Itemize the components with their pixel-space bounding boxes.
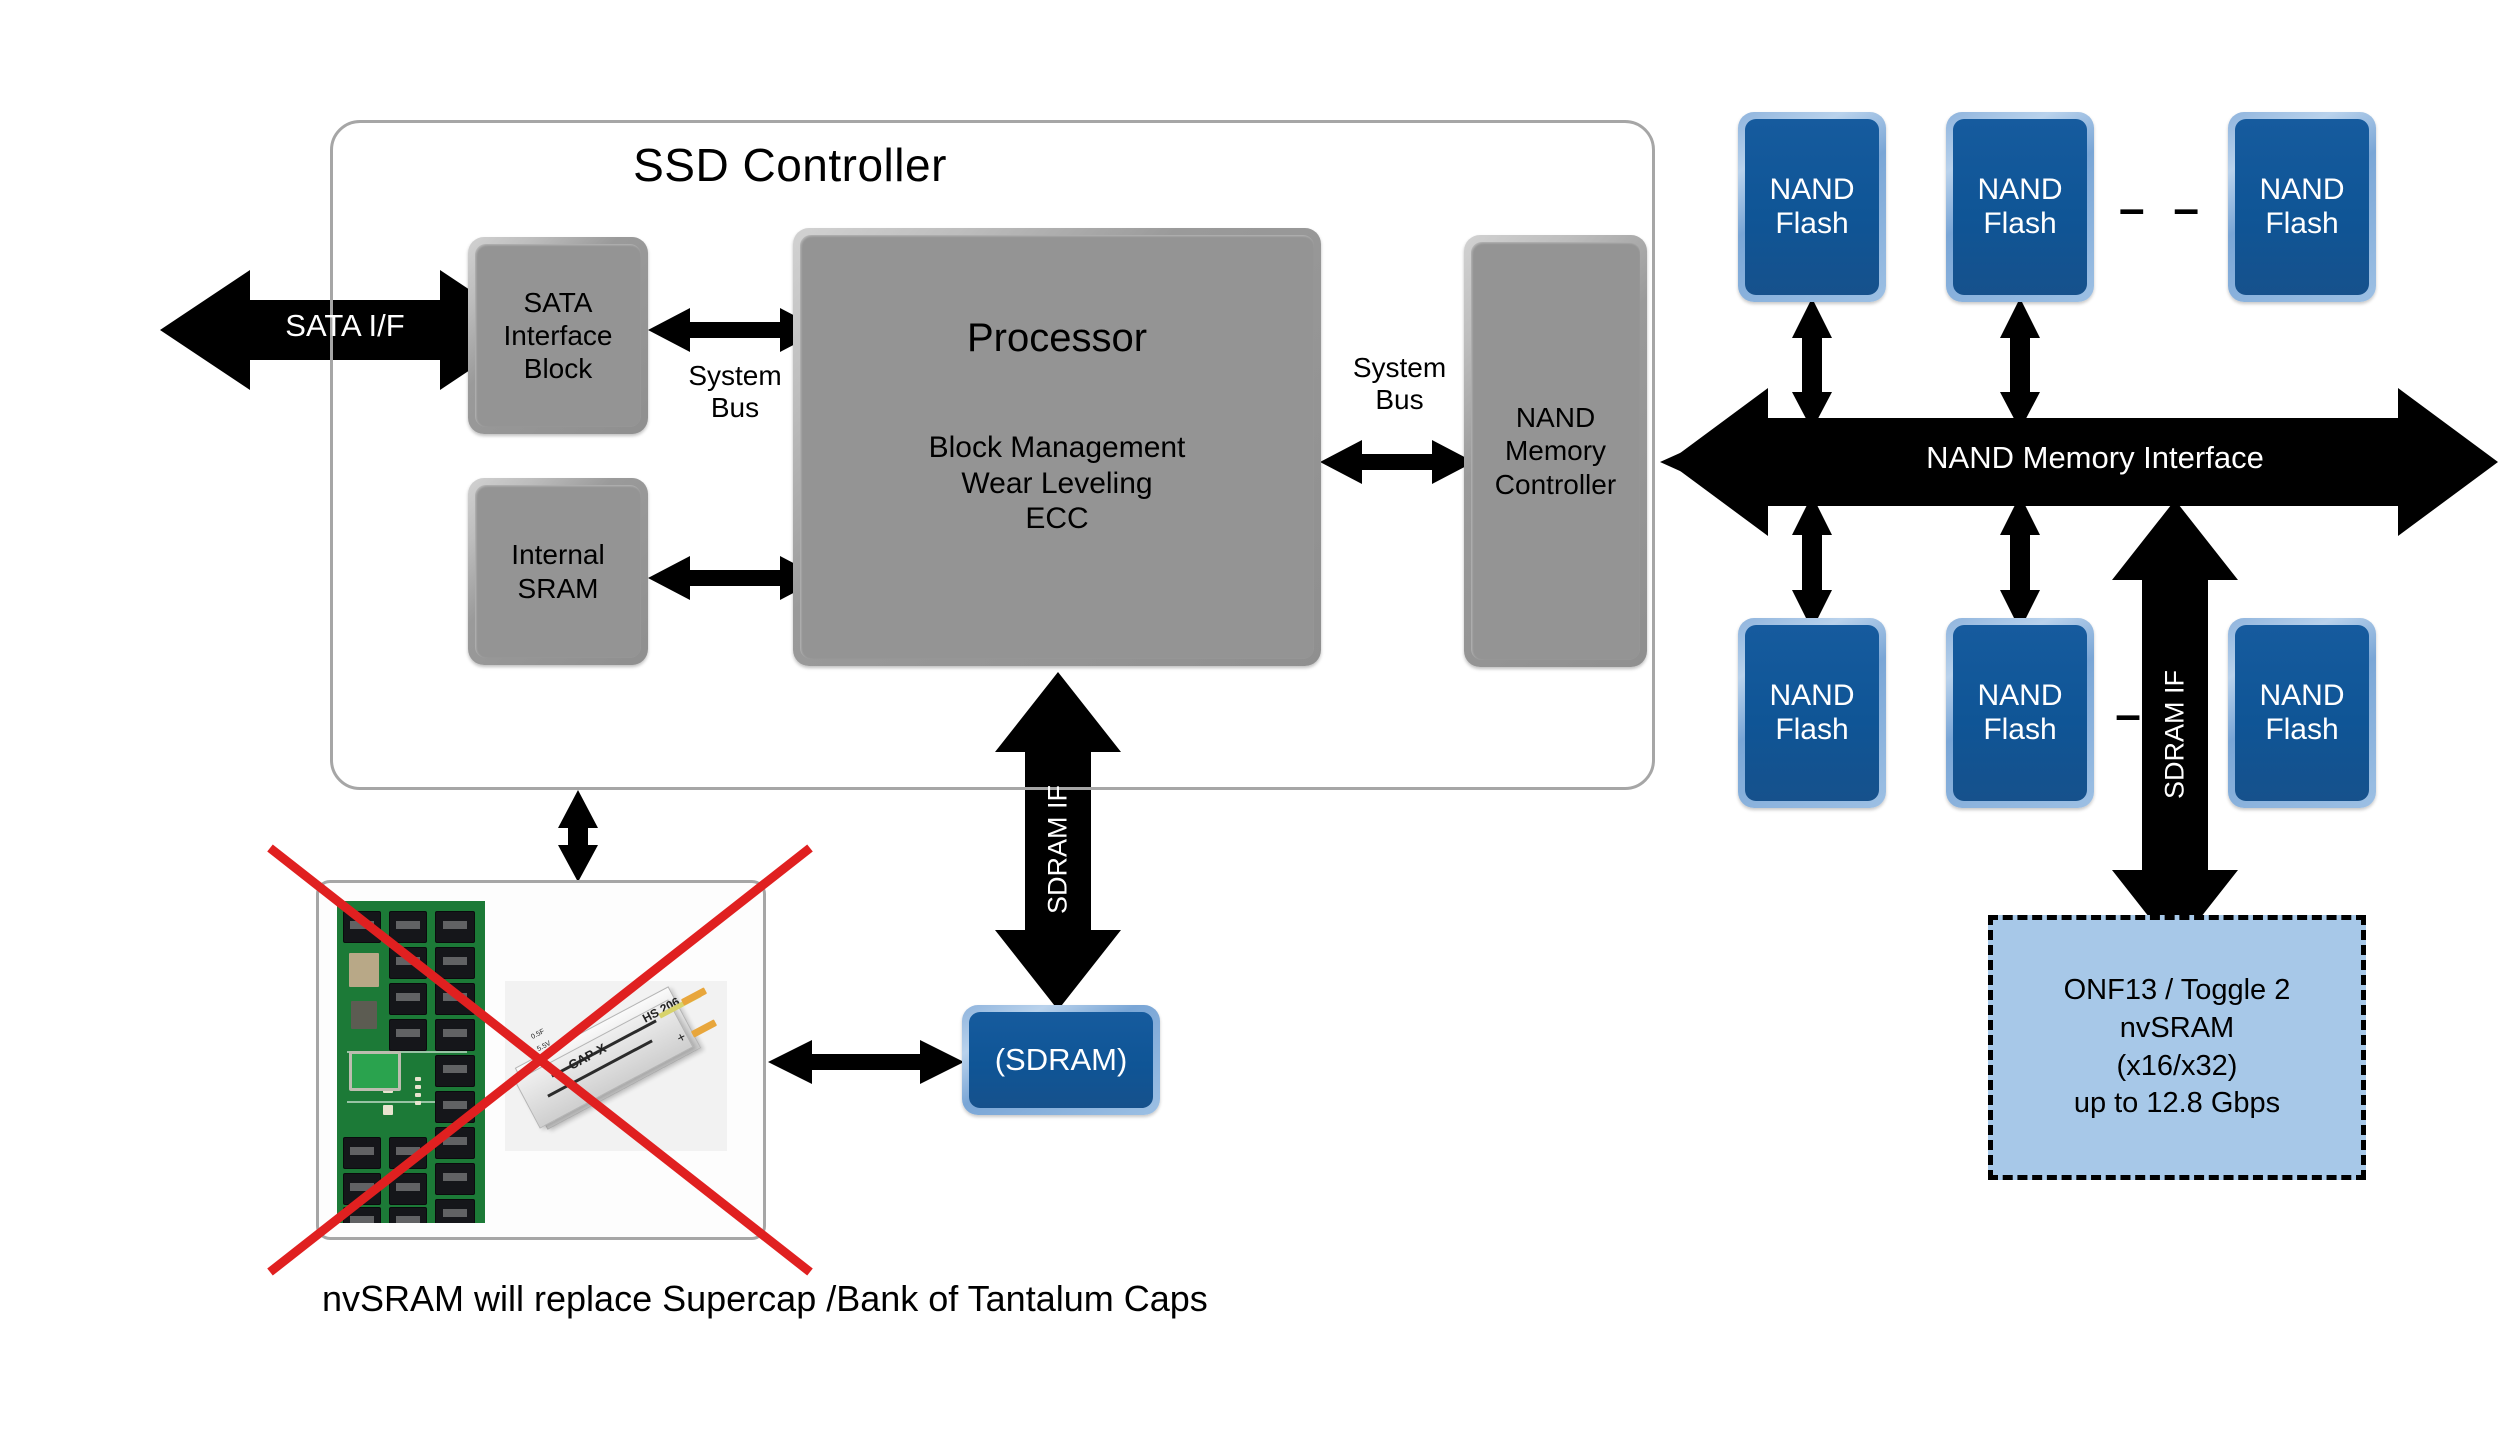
sata-interface-line-1: SATA — [524, 286, 593, 319]
internal-sram-line-2: SRAM — [518, 572, 599, 605]
ssd-controller-title: SSD Controller — [560, 130, 1020, 200]
sdram-if-right-label: SDRAM IF — [2160, 645, 2191, 825]
nand-flash-bottom-3[interactable]: NAND Flash — [2228, 618, 2376, 808]
internal-sram-block[interactable]: Internal SRAM — [468, 478, 648, 665]
sdram-block[interactable]: (SDRAM) — [962, 1005, 1160, 1115]
nand-flash-top-ellipsis: – – — [2108, 182, 2218, 235]
nand-top-connector-2 — [2000, 298, 2040, 430]
nand-flash-label-line-2: Flash — [2265, 713, 2338, 748]
system-bus-left-label: System Bus — [640, 360, 830, 424]
processor-function-3: ECC — [1025, 501, 1088, 536]
sata-interface-line-2: Interface — [504, 319, 613, 352]
nand-flash-label-line-1: NAND — [1977, 173, 2062, 208]
nand-flash-label-line-2: Flash — [1775, 713, 1848, 748]
tantalum-cap-bank-photo — [337, 901, 485, 1223]
nand-flash-label-line-1: NAND — [2259, 679, 2344, 714]
nand-memory-interface-label: NAND Memory Interface — [1790, 440, 2400, 476]
nand-top-connector-1 — [1792, 298, 1832, 430]
system-bus-right-label: System Bus — [1312, 352, 1487, 416]
nand-flash-label-line-2: Flash — [2265, 207, 2338, 242]
nand-mem-ctrl-line-1: NAND — [1516, 401, 1595, 434]
diagram-caption: nvSRAM will replace Supercap /Bank of Ta… — [322, 1278, 1208, 1320]
nand-flash-label-line-2: Flash — [1775, 207, 1848, 242]
nand-mem-ctrl-line-2: Memory — [1505, 434, 1606, 467]
sata-if-label: SATA I/F — [235, 308, 455, 344]
nand-flash-top-3[interactable]: NAND Flash — [2228, 112, 2376, 302]
supercap-photo: CAP-X HS 206 0.5F 5.5V + — [505, 981, 727, 1151]
nand-flash-bottom-1[interactable]: NAND Flash — [1738, 618, 1886, 808]
nvsram-line-1: ONF13 / Toggle 2 — [2064, 972, 2291, 1010]
sdram-if-center-label: SDRAM IF — [1043, 760, 1074, 940]
processor-block[interactable]: Processor Block Management Wear Leveling… — [793, 228, 1321, 666]
nand-flash-bottom-2[interactable]: NAND Flash — [1946, 618, 2094, 808]
nvsram-spec-box[interactable]: ONF13 / Toggle 2 nvSRAM (x16/x32) up to … — [1988, 915, 2366, 1180]
nand-memory-controller-block[interactable]: NAND Memory Controller — [1464, 235, 1647, 667]
nand-mem-ctrl-line-3: Controller — [1495, 468, 1616, 501]
nand-bottom-connector-1 — [1792, 495, 1832, 630]
nand-flash-label-line-2: Flash — [1983, 713, 2056, 748]
supercap-spec-1-text: 0.5F — [530, 1028, 546, 1041]
nand-flash-label-line-1: NAND — [1769, 679, 1854, 714]
photo-connector-arrow — [558, 790, 598, 882]
nand-flash-label-line-1: NAND — [1977, 679, 2062, 714]
nand-flash-label-line-1: NAND — [1769, 173, 1854, 208]
sata-interface-block[interactable]: SATA Interface Block — [468, 237, 648, 434]
nvsram-line-2: nvSRAM — [2120, 1010, 2234, 1048]
processor-function-2: Wear Leveling — [961, 466, 1152, 501]
sdram-label: (SDRAM) — [995, 1042, 1128, 1078]
nand-flash-top-1[interactable]: NAND Flash — [1738, 112, 1886, 302]
nand-bottom-connector-2 — [2000, 495, 2040, 630]
supercap-photo-frame: or CAP-X HS 206 0.5F 5.5V + — [316, 880, 766, 1240]
internal-sram-line-1: Internal — [511, 538, 604, 571]
processor-title: Processor — [967, 315, 1147, 362]
nand-flash-label-line-1: NAND — [2259, 173, 2344, 208]
processor-function-1: Block Management — [929, 430, 1186, 465]
nvsram-line-3: (x16/x32) — [2117, 1048, 2238, 1086]
nand-flash-label-line-2: Flash — [1983, 207, 2056, 242]
sata-interface-line-3: Block — [524, 352, 592, 385]
nvsram-line-4: up to 12.8 Gbps — [2074, 1085, 2280, 1123]
ssd-controller-diagram: SSD Controller SATA Interface Block Inte… — [0, 0, 2500, 1438]
nand-flash-top-2[interactable]: NAND Flash — [1946, 112, 2094, 302]
nand-flash-bottom-dash: – — [2098, 688, 2158, 741]
photo-to-sdram-arrow — [768, 1040, 964, 1084]
